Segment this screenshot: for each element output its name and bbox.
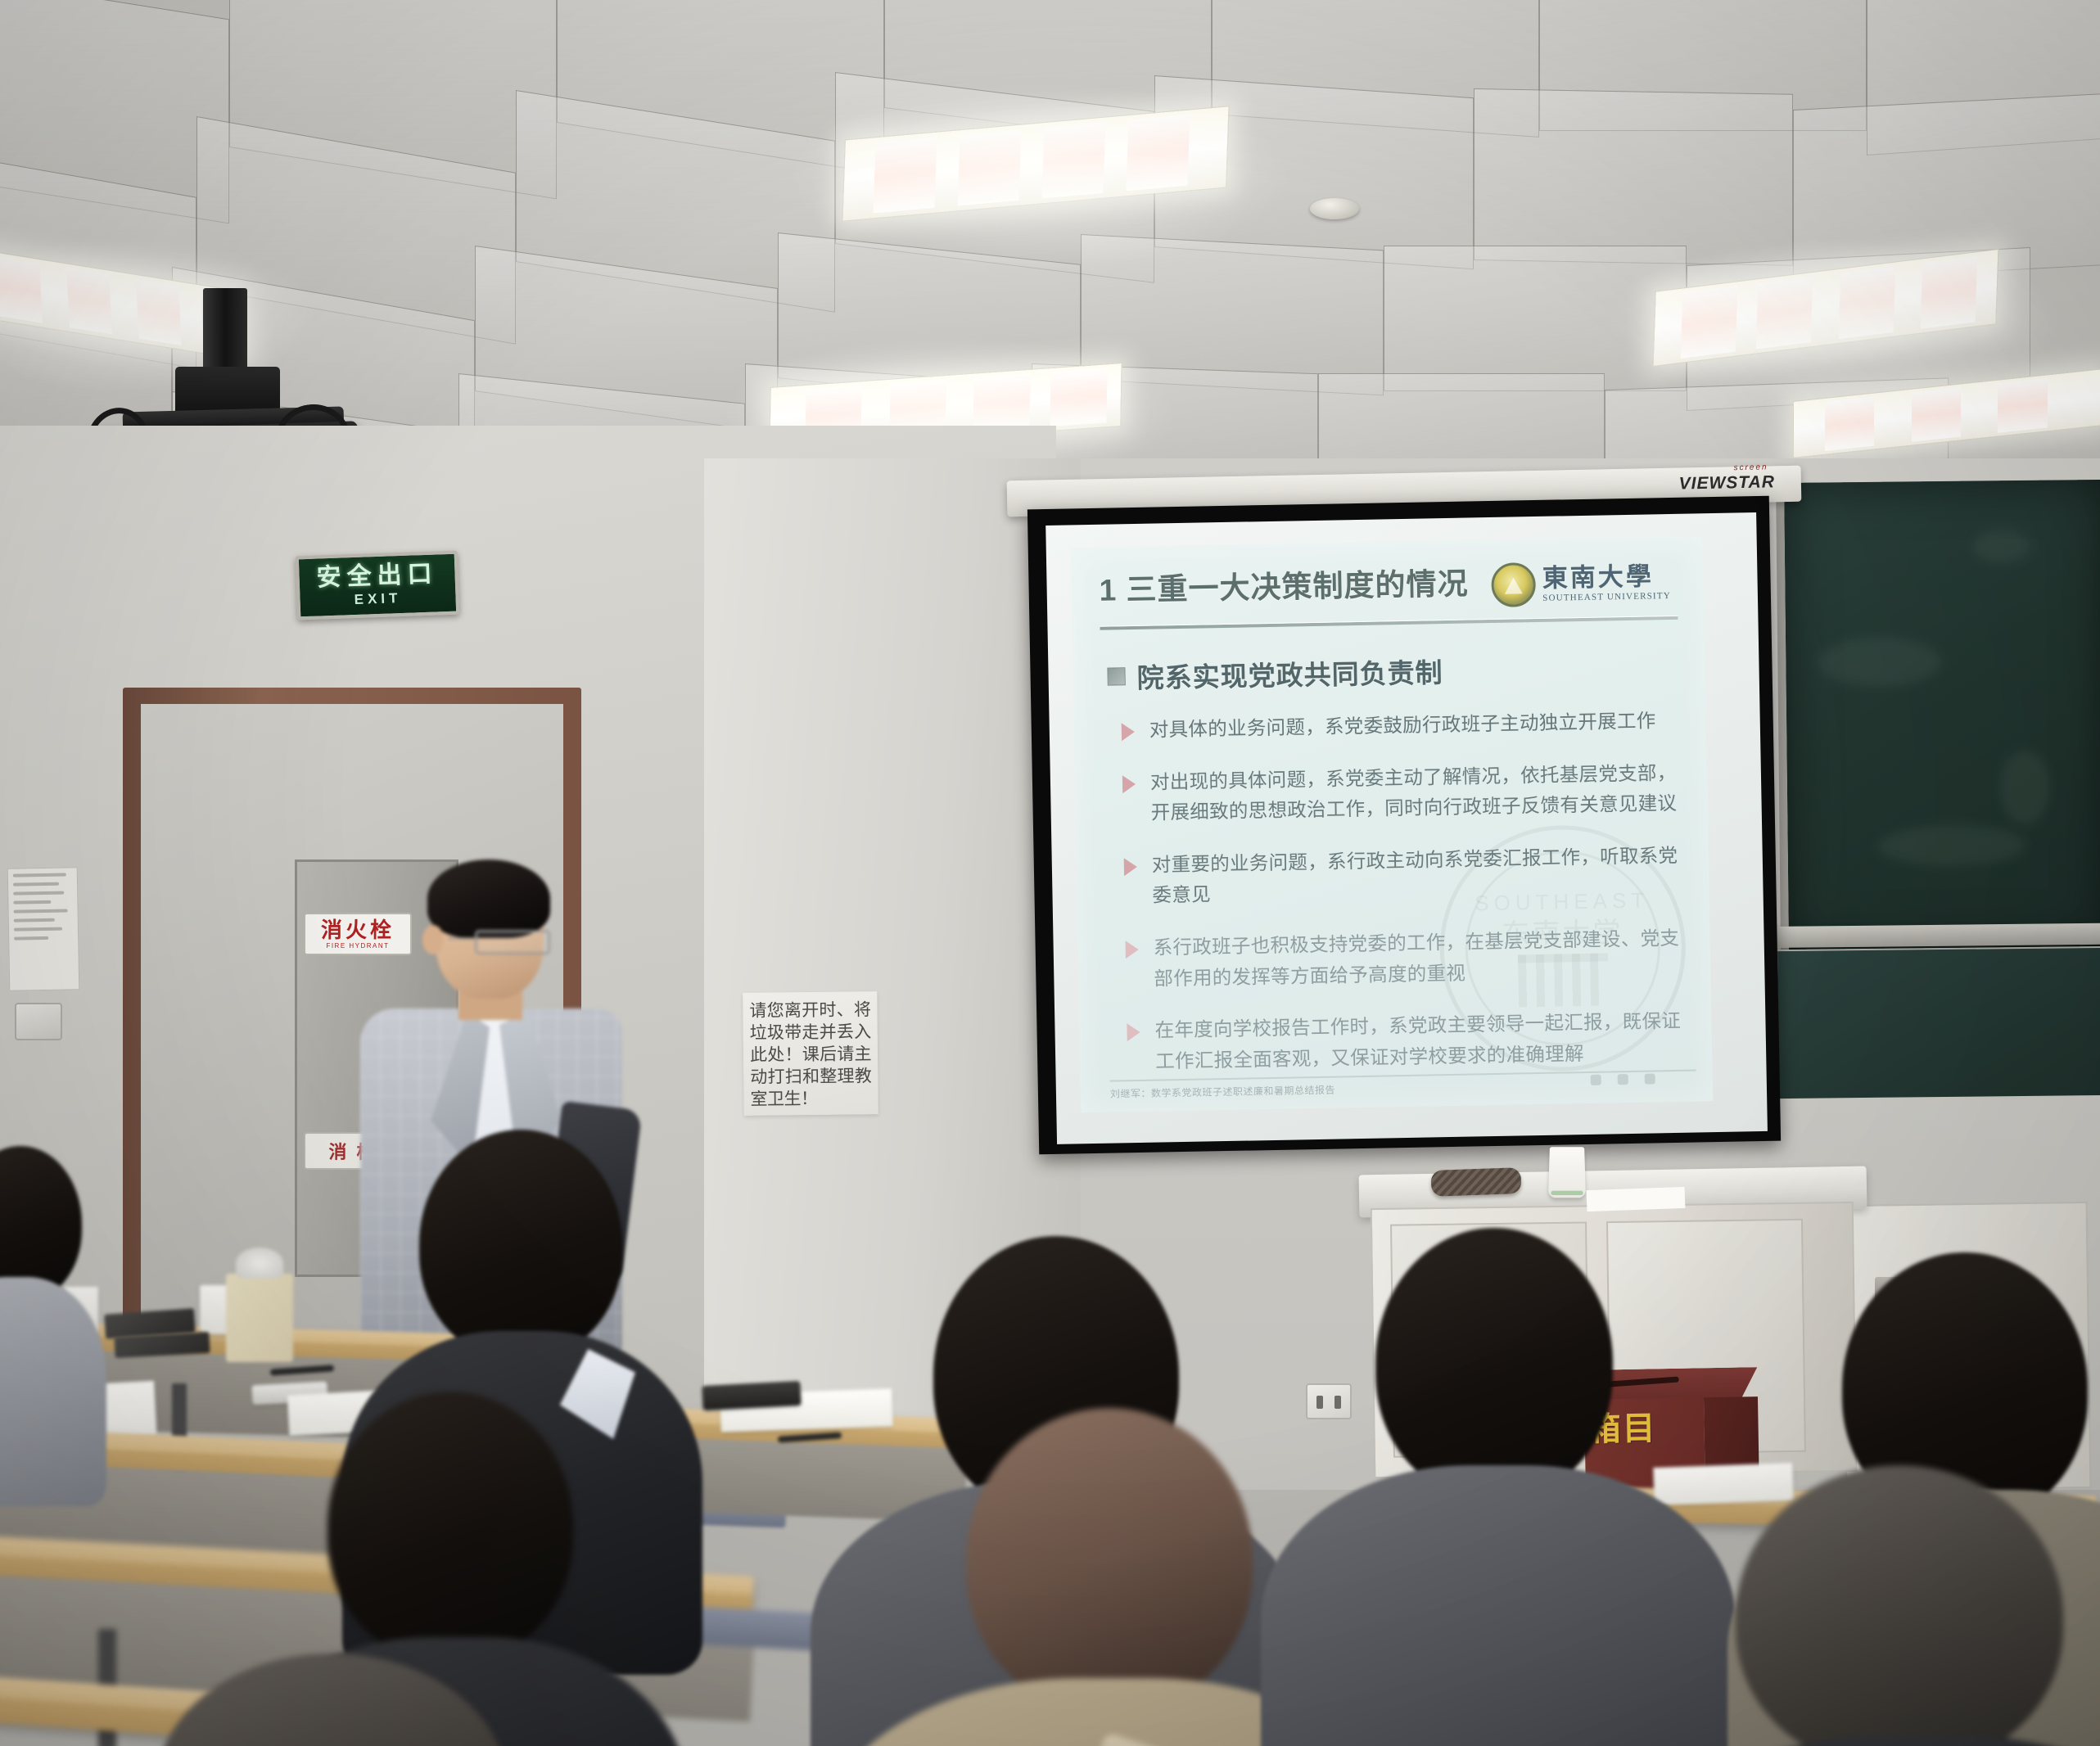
slide-bullet-item: 在年度向学校报告工作时，系党政主要领导一起汇报，既保证工作汇报全面客观，又保证对… xyxy=(1127,1006,1684,1078)
power-outlet[interactable] xyxy=(1306,1383,1352,1419)
triangle-bullet-icon xyxy=(1122,775,1136,793)
light-switch[interactable] xyxy=(15,1003,62,1040)
slide-bullet-text: 对出现的具体问题，系党委主动了解情况，依托基层党支部，开展细致的思想政治工作，同… xyxy=(1150,757,1680,828)
triangle-bullet-icon xyxy=(1124,858,1137,876)
seu-logo-en: SOUTHEAST UNIVERSITY xyxy=(1542,591,1671,603)
slide-bullet-text: 对重要的业务问题，系行政主动向系党委汇报工作，听取系党委意见 xyxy=(1152,841,1682,912)
slide-heading-text: 院系实现党政共同负责制 xyxy=(1136,651,1443,696)
glasses-icon xyxy=(475,930,550,954)
audience-body xyxy=(1261,1465,1736,1746)
tv-remote[interactable] xyxy=(702,1381,801,1410)
classroom-photo: 安全出口 EXIT 消火栓 FIRE HYDRANT 消 栓 请您离开时、将垃圾… xyxy=(0,0,2100,1746)
slide-menu-button[interactable] xyxy=(1618,1074,1628,1085)
square-bullet-icon xyxy=(1107,667,1125,685)
slide-bullet-item: 对出现的具体问题，系党委主动了解情况，依托基层党支部，开展细致的思想政治工作，同… xyxy=(1122,757,1680,829)
suggestion-box-slot xyxy=(1606,1377,1678,1387)
slide-bullet-text: 在年度向学校报告工作时，系党政主要领导一起汇报，既保证工作汇报全面客观，又保证对… xyxy=(1154,1006,1684,1077)
audience-head xyxy=(327,1392,573,1662)
seu-crest-icon xyxy=(1491,562,1536,607)
exit-sign-en: EXIT xyxy=(354,589,401,607)
screen-brand-sub: screen xyxy=(1733,462,1768,472)
chalk-rail xyxy=(1752,923,2100,949)
wall-notice-board xyxy=(7,867,80,990)
slide-bullet-item: 对重要的业务问题，系行政主动向系党委汇报工作，听取系党委意见 xyxy=(1124,841,1682,913)
projector-mount-pole xyxy=(203,288,247,377)
trash-notice-text: 请您离开时、将垃圾带走并丢入此处！课后请主动打扫和整理教室卫生！ xyxy=(749,999,871,1111)
slide-bullet-item: 系行政班子也积极支持党委的工作，在基层党支部建设、党支部作用的发挥等方面给予高度… xyxy=(1125,923,1682,995)
blackboard-lower xyxy=(1777,948,2100,1099)
triangle-bullet-icon xyxy=(1122,723,1135,741)
exit-sign: 安全出口 EXIT xyxy=(296,551,460,620)
papers-stack[interactable] xyxy=(1653,1463,1794,1505)
audience-head xyxy=(1375,1228,1613,1498)
podium-papers[interactable] xyxy=(1587,1187,1686,1211)
audience-head xyxy=(419,1130,622,1359)
presenter-ear xyxy=(422,925,444,954)
tissue-box[interactable] xyxy=(226,1274,293,1362)
screen-brand: VIEWSTAR xyxy=(1678,472,1775,494)
blackboard-eraser[interactable] xyxy=(1430,1167,1521,1197)
paper-cup[interactable] xyxy=(1548,1147,1586,1198)
smoke-detector-icon xyxy=(1310,198,1359,219)
projection-screen-frame: SOUTHEAST 东南大学 1 三重一大决策制度的情况 東南大學 SOUTHE… xyxy=(1027,496,1781,1154)
seu-logo-cn: 東南大學 xyxy=(1542,563,1670,591)
slide-title-rule xyxy=(1100,616,1678,630)
triangle-bullet-icon xyxy=(1127,1023,1140,1041)
slide-next-button[interactable] xyxy=(1645,1073,1655,1084)
seu-logo: 東南大學 SOUTHEAST UNIVERSITY xyxy=(1491,560,1671,607)
slide-prev-button[interactable] xyxy=(1591,1075,1601,1085)
slide-header: 1 三重一大决策制度的情况 東南大學 SOUTHEAST UNIVERSITY xyxy=(1099,555,1685,644)
slide-heading: 院系实现党政共同负责制 xyxy=(1107,651,1443,697)
trash-notice: 请您离开时、将垃圾带走并丢入此处！课后请主动打扫和整理教室卫生！ xyxy=(743,991,878,1116)
projection-screen-surface: SOUTHEAST 东南大学 1 三重一大决策制度的情况 東南大學 SOUTHE… xyxy=(1045,512,1768,1144)
slide-bullet-text: 系行政班子也积极支持党委的工作，在基层党支部建设、党支部作用的发挥等方面给予高度… xyxy=(1153,923,1682,995)
presentation-slide[interactable]: SOUTHEAST 东南大学 1 三重一大决策制度的情况 東南大學 SOUTHE… xyxy=(1071,536,1714,1112)
slide-bullet-item: 对具体的业务问题，系党委鼓励行政班子主动独立开展工作 xyxy=(1121,706,1678,747)
exit-sign-cn: 安全出口 xyxy=(316,562,438,590)
blackboard xyxy=(1776,480,2100,950)
triangle-bullet-icon xyxy=(1126,941,1139,959)
slide-navigation-controls[interactable] xyxy=(1591,1073,1655,1085)
audience-head xyxy=(966,1408,1253,1711)
presenter-hair xyxy=(427,859,550,938)
slide-bullet-list: 对具体的业务问题，系党委鼓励行政班子主动独立开展工作 对出现的具体问题，系党委主… xyxy=(1121,706,1684,1099)
slide-bullet-text: 对具体的业务问题，系党委鼓励行政班子主动独立开展工作 xyxy=(1149,706,1655,746)
